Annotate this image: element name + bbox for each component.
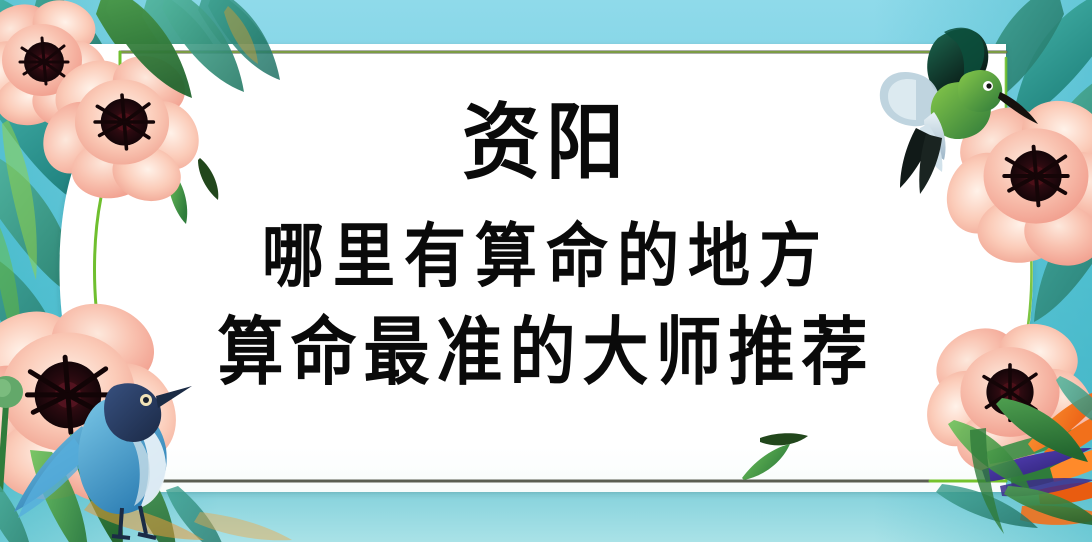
decorative-artwork bbox=[0, 0, 1092, 542]
banner-canvas: 资阳 哪里有算命的地方 算命最准的大师推荐 bbox=[0, 0, 1092, 542]
